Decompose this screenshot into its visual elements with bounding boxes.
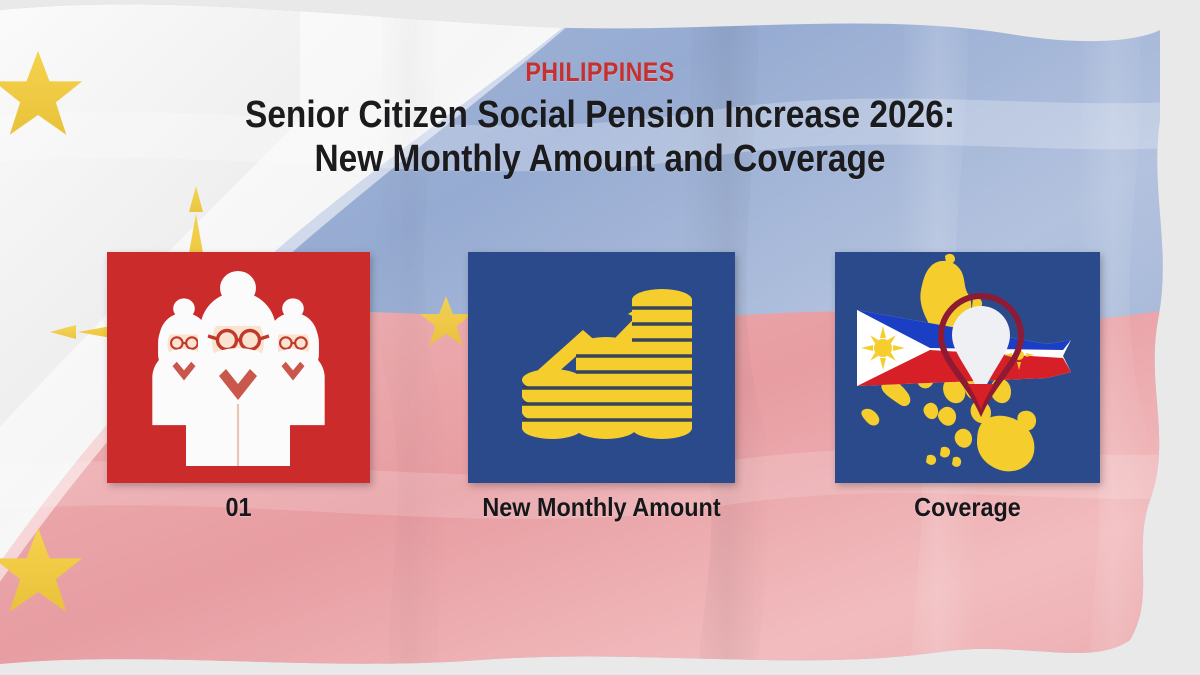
title-block: PHILIPPINES Senior Citizen Social Pensio… xyxy=(0,58,1200,181)
coin-stack-medium xyxy=(576,337,636,439)
page-title-line-1: Senior Citizen Social Pension Increase 2… xyxy=(245,94,955,136)
card-new-monthly-amount[interactable] xyxy=(468,252,735,483)
card-seniors[interactable] xyxy=(107,252,370,483)
coin-stack-small xyxy=(522,369,582,439)
coin-stack-large xyxy=(632,289,692,439)
card-coverage[interactable] xyxy=(835,252,1100,483)
infographic-canvas: PHILIPPINES Senior Citizen Social Pensio… xyxy=(0,0,1200,675)
page-title-line-2: New Monthly Amount and Coverage xyxy=(72,137,1128,181)
card-coverage-caption: Coverage xyxy=(848,492,1087,522)
philippines-map-flag-pin-icon xyxy=(835,252,1100,483)
country-eyebrow: PHILIPPINES xyxy=(84,58,1116,86)
coin-stacks-growth-arrow-icon xyxy=(468,252,735,483)
senior-citizens-group-icon xyxy=(107,252,370,483)
card-amount-caption: New Monthly Amount xyxy=(454,492,748,522)
card-seniors-caption: 01 xyxy=(120,492,357,522)
page-title: Senior Citizen Social Pension Increase 2… xyxy=(72,93,1128,181)
